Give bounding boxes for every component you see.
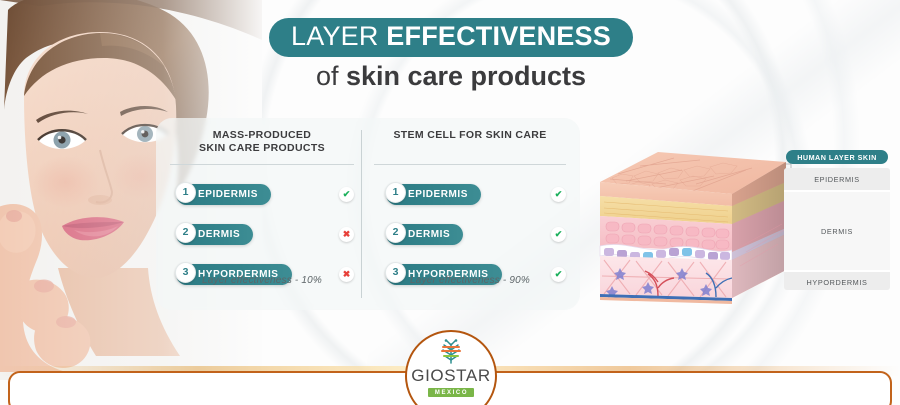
- check-icon: ✔: [551, 227, 566, 242]
- column-mass-produced: MASS-PRODUCED SKIN CARE PRODUCTS 1 EPIDE…: [164, 118, 360, 294]
- legend-row-hypordermis: HYPORDERMIS: [784, 272, 890, 290]
- layer-number-badge: 1: [175, 182, 196, 203]
- layer-number-badge: 2: [385, 222, 406, 243]
- giostar-tree-icon: [436, 339, 466, 365]
- page-subtitle: of skin care products: [236, 62, 666, 92]
- effectiveness-text-stem-cell: Layer effectiveness - 90%: [368, 275, 572, 286]
- layer-label: EPIDERMIS: [408, 189, 468, 200]
- column-header-line1: STEM CELL FOR SKIN CARE: [368, 129, 572, 142]
- layer-row[interactable]: 2 DERMIS ✔: [368, 214, 572, 254]
- column-header-line1: MASS-PRODUCED: [164, 129, 360, 142]
- legend-row-dermis: DERMIS: [784, 192, 890, 272]
- skin-layer-legend: HUMAN LAYER SKIN EPIDERMIS DERMIS HYPORD…: [784, 150, 890, 290]
- infographic-canvas: LAYER EFFECTIVENESS of skin care product…: [0, 0, 900, 405]
- headline-block: LAYER EFFECTIVENESS of skin care product…: [236, 18, 666, 92]
- layer-number-badge: 1: [385, 182, 406, 203]
- column-divider: [361, 130, 362, 298]
- layer-pill-epidermis[interactable]: 1 EPIDERMIS: [176, 184, 271, 205]
- layer-number-badge: 2: [175, 222, 196, 243]
- check-icon: ✔: [551, 187, 566, 202]
- layer-pill-dermis[interactable]: 2 DERMIS: [176, 224, 253, 245]
- layer-pill-dermis[interactable]: 2 DERMIS: [386, 224, 463, 245]
- effectiveness-text-mass-produced: Layer effectiveness - 10%: [164, 275, 360, 286]
- layer-row[interactable]: 3 HYPORDERMIS ✖: [164, 254, 360, 294]
- layer-label: DERMIS: [408, 229, 450, 240]
- legend-row-epidermis: EPIDERMIS: [784, 168, 890, 192]
- title-light-part: LAYER: [291, 21, 386, 51]
- comparison-card: MASS-PRODUCED SKIN CARE PRODUCTS 1 EPIDE…: [156, 118, 580, 310]
- subtitle-light-part: of: [316, 61, 346, 91]
- layer-row[interactable]: 3 HYPORDERMIS ✔: [368, 254, 572, 294]
- column-stem-cell: STEM CELL FOR SKIN CARE 1 EPIDERMIS ✔ 2: [368, 118, 572, 294]
- layer-row[interactable]: 1 EPIDERMIS ✔: [164, 174, 360, 214]
- layer-label: DERMIS: [198, 229, 240, 240]
- logo-country-badge: MEXICO: [428, 388, 474, 397]
- layer-row[interactable]: 1 EPIDERMIS ✔: [368, 174, 572, 214]
- column-header-mass-produced: MASS-PRODUCED SKIN CARE PRODUCTS: [164, 118, 360, 159]
- column-header-stem-cell: STEM CELL FOR SKIN CARE: [368, 118, 572, 159]
- column-header-line2: SKIN CARE PRODUCTS: [164, 142, 360, 155]
- skin-cross-section-illustration: [596, 148, 792, 306]
- title-bold-part: EFFECTIVENESS: [386, 21, 611, 51]
- layer-label: EPIDERMIS: [198, 189, 258, 200]
- cross-icon: ✖: [339, 227, 354, 242]
- subtitle-bold-part: skin care products: [346, 61, 586, 91]
- page-title-badge: LAYER EFFECTIVENESS: [269, 18, 633, 57]
- legend-title-badge: HUMAN LAYER SKIN: [786, 150, 888, 164]
- legend-rows: EPIDERMIS DERMIS HYPORDERMIS: [784, 168, 890, 290]
- layer-row[interactable]: 2 DERMIS ✖: [164, 214, 360, 254]
- check-icon: ✔: [339, 187, 354, 202]
- layer-pill-epidermis[interactable]: 1 EPIDERMIS: [386, 184, 481, 205]
- logo-wordmark: GIOSTAR: [411, 366, 490, 386]
